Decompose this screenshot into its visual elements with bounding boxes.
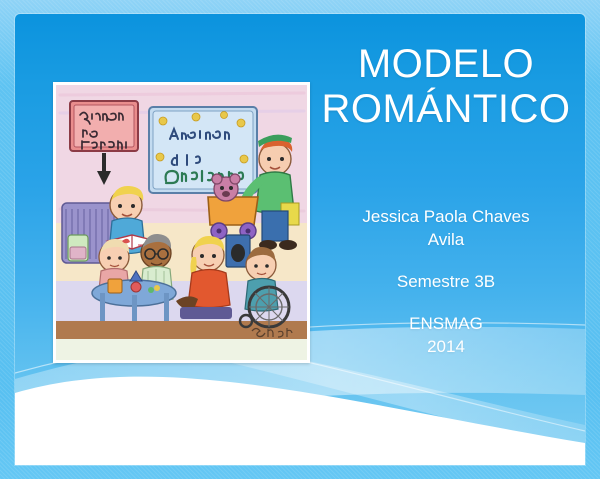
slide-title: MODELO ROMÁNTICO <box>315 42 577 132</box>
slide-subtitle: Jessica Paola Chaves Avila Semestre 3B E… <box>315 206 577 359</box>
poster-atencion-a-la-diversidad <box>149 107 257 193</box>
subtitle-semester: Semestre 3B <box>315 271 577 294</box>
illustration-frame <box>53 82 310 363</box>
slide-canvas: MODELO ROMÁNTICO Jessica Paola Chaves Av… <box>15 14 585 465</box>
subtitle-author-line-2: Avila <box>315 229 577 252</box>
illustration-image <box>56 85 307 360</box>
subtitle-spacer-2 <box>315 294 577 313</box>
subtitle-spacer-1 <box>315 252 577 271</box>
subtitle-year: 2014 <box>315 336 577 359</box>
title-line-1: MODELO <box>315 42 577 87</box>
classroom-drawing <box>56 85 307 360</box>
wave-foreground-white <box>15 377 585 465</box>
subtitle-author-line-1: Jessica Paola Chaves <box>315 206 577 229</box>
title-line-2: ROMÁNTICO <box>315 87 577 132</box>
subtitle-institution: ENSMAG <box>315 313 577 336</box>
slide-frame: MODELO ROMÁNTICO Jessica Paola Chaves Av… <box>0 0 600 479</box>
